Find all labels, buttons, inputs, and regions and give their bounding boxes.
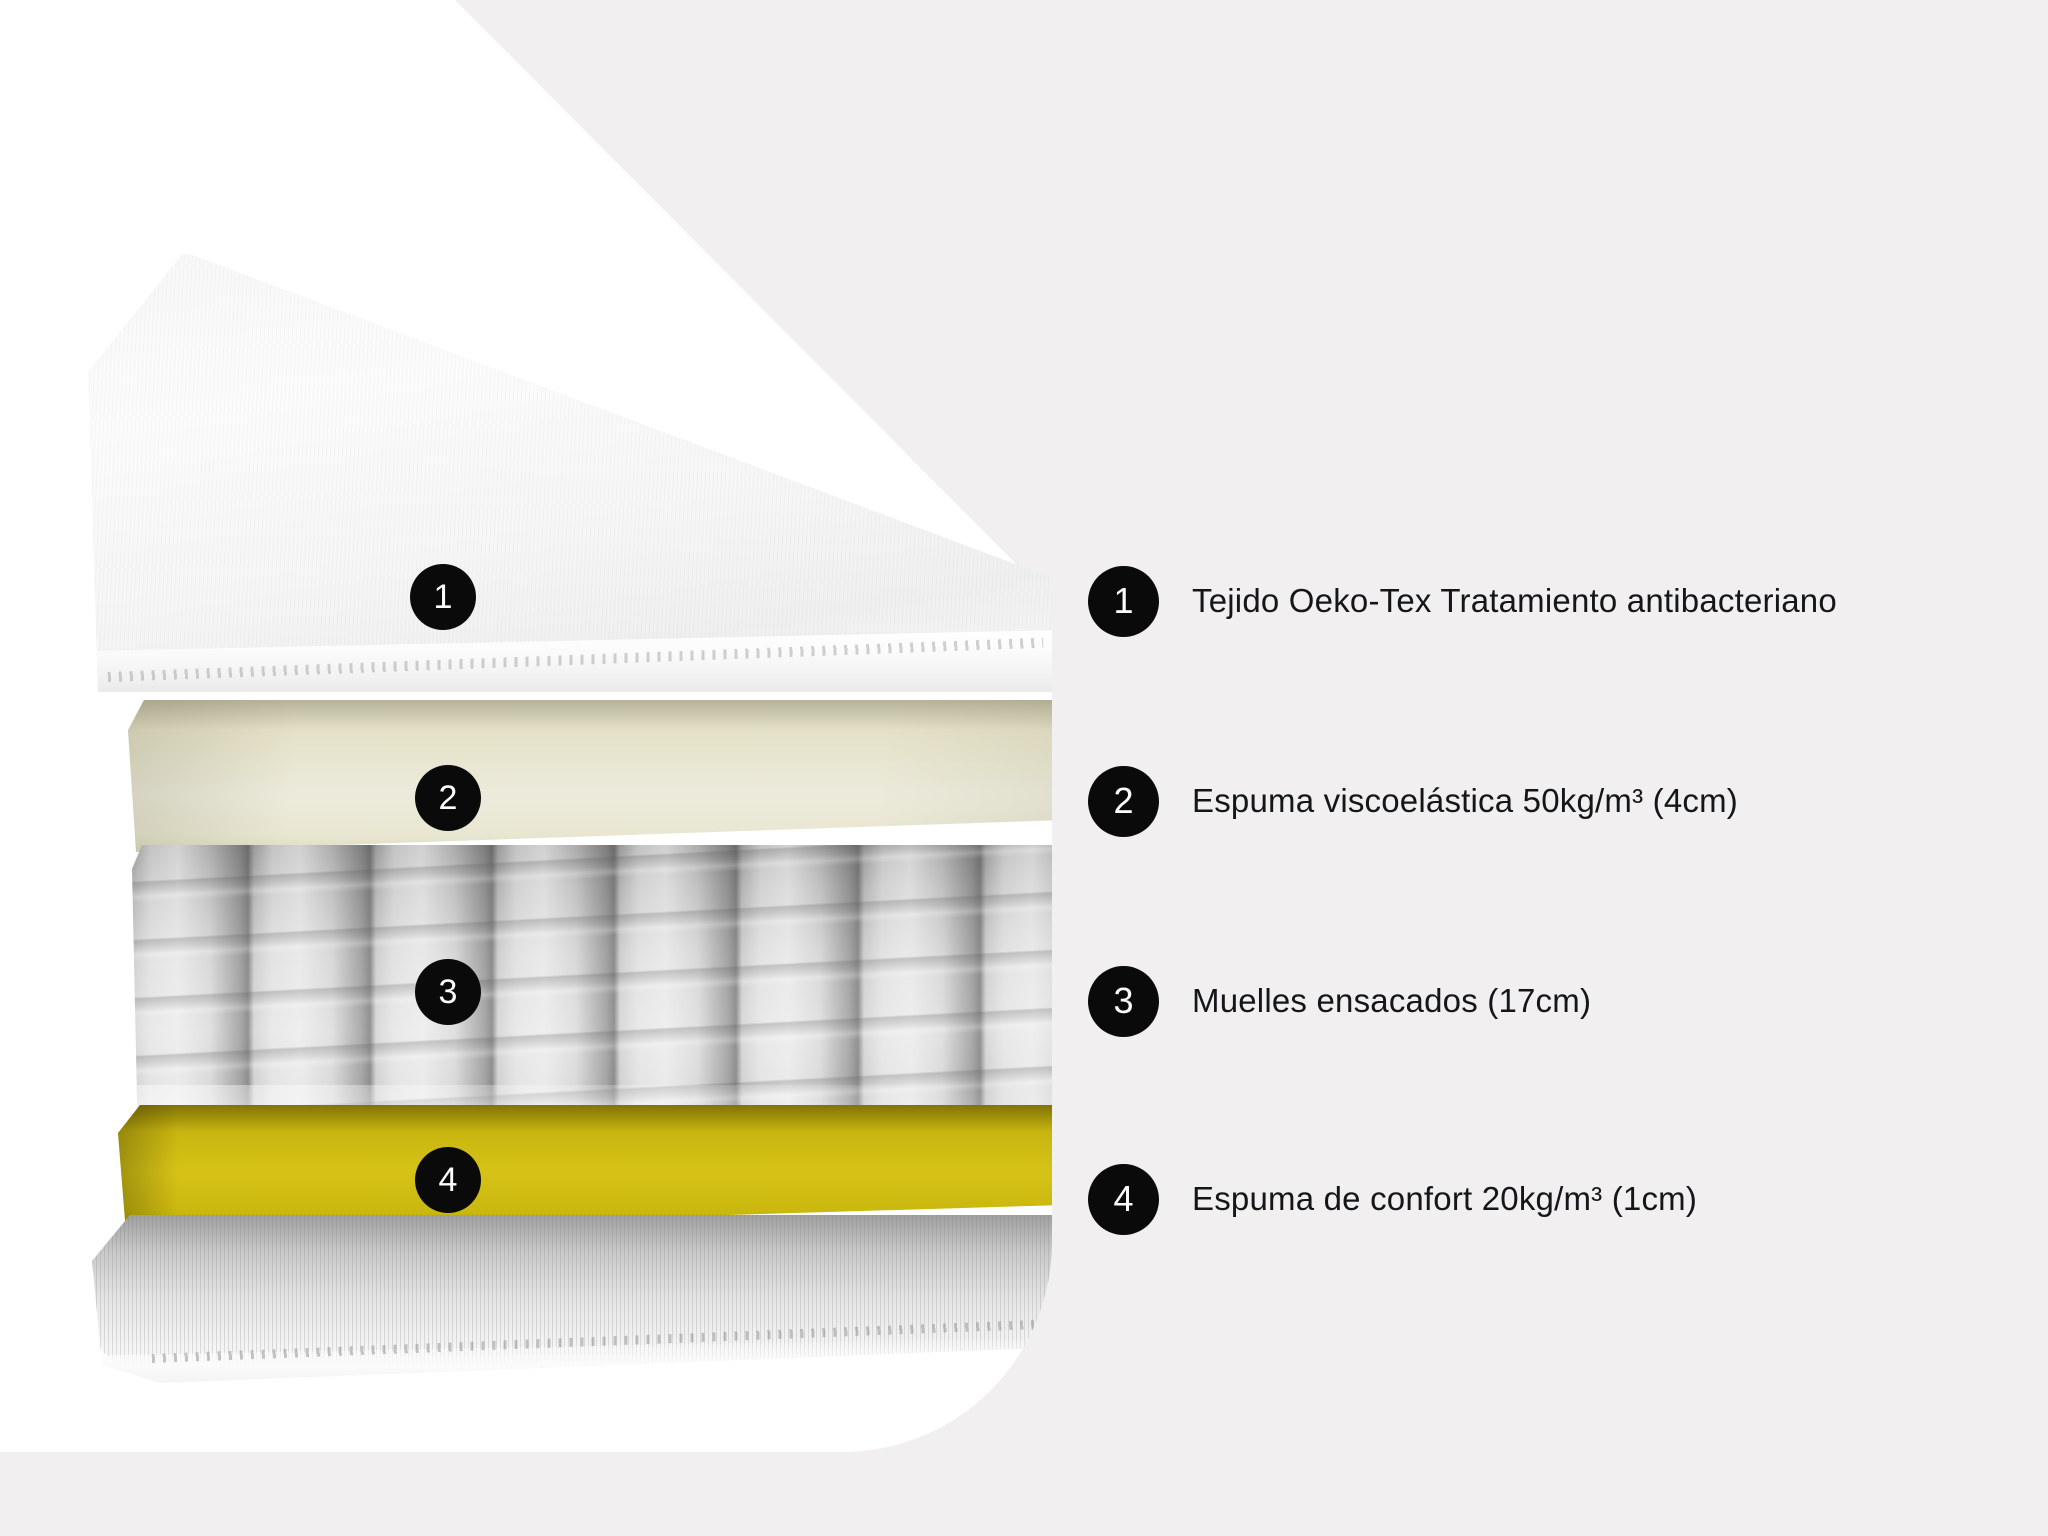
image-marker-2: 2 — [415, 765, 481, 831]
layer-espuma-de-confort — [118, 1105, 1052, 1233]
legend-item-1: 1 Tejido Oeko-Tex Tratamiento antibacter… — [1088, 565, 1837, 637]
legend-item-4: 4 Espuma de confort 20kg/m³ (1cm) — [1088, 1163, 1697, 1235]
layer-base-fabric — [92, 1215, 1052, 1383]
legend-item-3: 3 Muelles ensacados (17cm) — [1088, 965, 1591, 1037]
layer-legend-list: 1 Tejido Oeko-Tex Tratamiento antibacter… — [1088, 0, 2018, 1536]
visco-side-shading — [128, 700, 1052, 852]
layer-muelles-ensacados — [132, 845, 1052, 1145]
comfort-foam-side-shadow — [118, 1105, 178, 1233]
legend-label-1: Tejido Oeko-Tex Tratamiento antibacteria… — [1192, 582, 1837, 620]
mattress-layers-infographic: 1 2 3 4 1 Tejido Oeko-Tex Tratamiento an… — [0, 0, 2048, 1536]
legend-badge-1: 1 — [1088, 566, 1159, 637]
fabric-top-surface — [88, 252, 1052, 692]
image-marker-3: 3 — [415, 959, 481, 1025]
legend-item-2: 2 Espuma viscoelástica 50kg/m³ (4cm) — [1088, 765, 1738, 837]
legend-label-3: Muelles ensacados (17cm) — [1192, 982, 1591, 1020]
image-marker-1: 1 — [410, 564, 476, 630]
mattress-stack — [0, 0, 1052, 1452]
legend-badge-4: 4 — [1088, 1164, 1159, 1235]
legend-badge-3: 3 — [1088, 966, 1159, 1037]
comfort-foam-top-shadow — [118, 1105, 1052, 1131]
layer-espuma-viscoelastica — [128, 700, 1052, 852]
mattress-cutaway-image: 1 2 3 4 — [0, 0, 1052, 1452]
legend-badge-2: 2 — [1088, 766, 1159, 837]
legend-label-2: Espuma viscoelástica 50kg/m³ (4cm) — [1192, 782, 1738, 820]
layer-tejido-oeko-tex — [88, 252, 1052, 692]
image-marker-4: 4 — [415, 1147, 481, 1213]
legend-label-4: Espuma de confort 20kg/m³ (1cm) — [1192, 1180, 1697, 1218]
